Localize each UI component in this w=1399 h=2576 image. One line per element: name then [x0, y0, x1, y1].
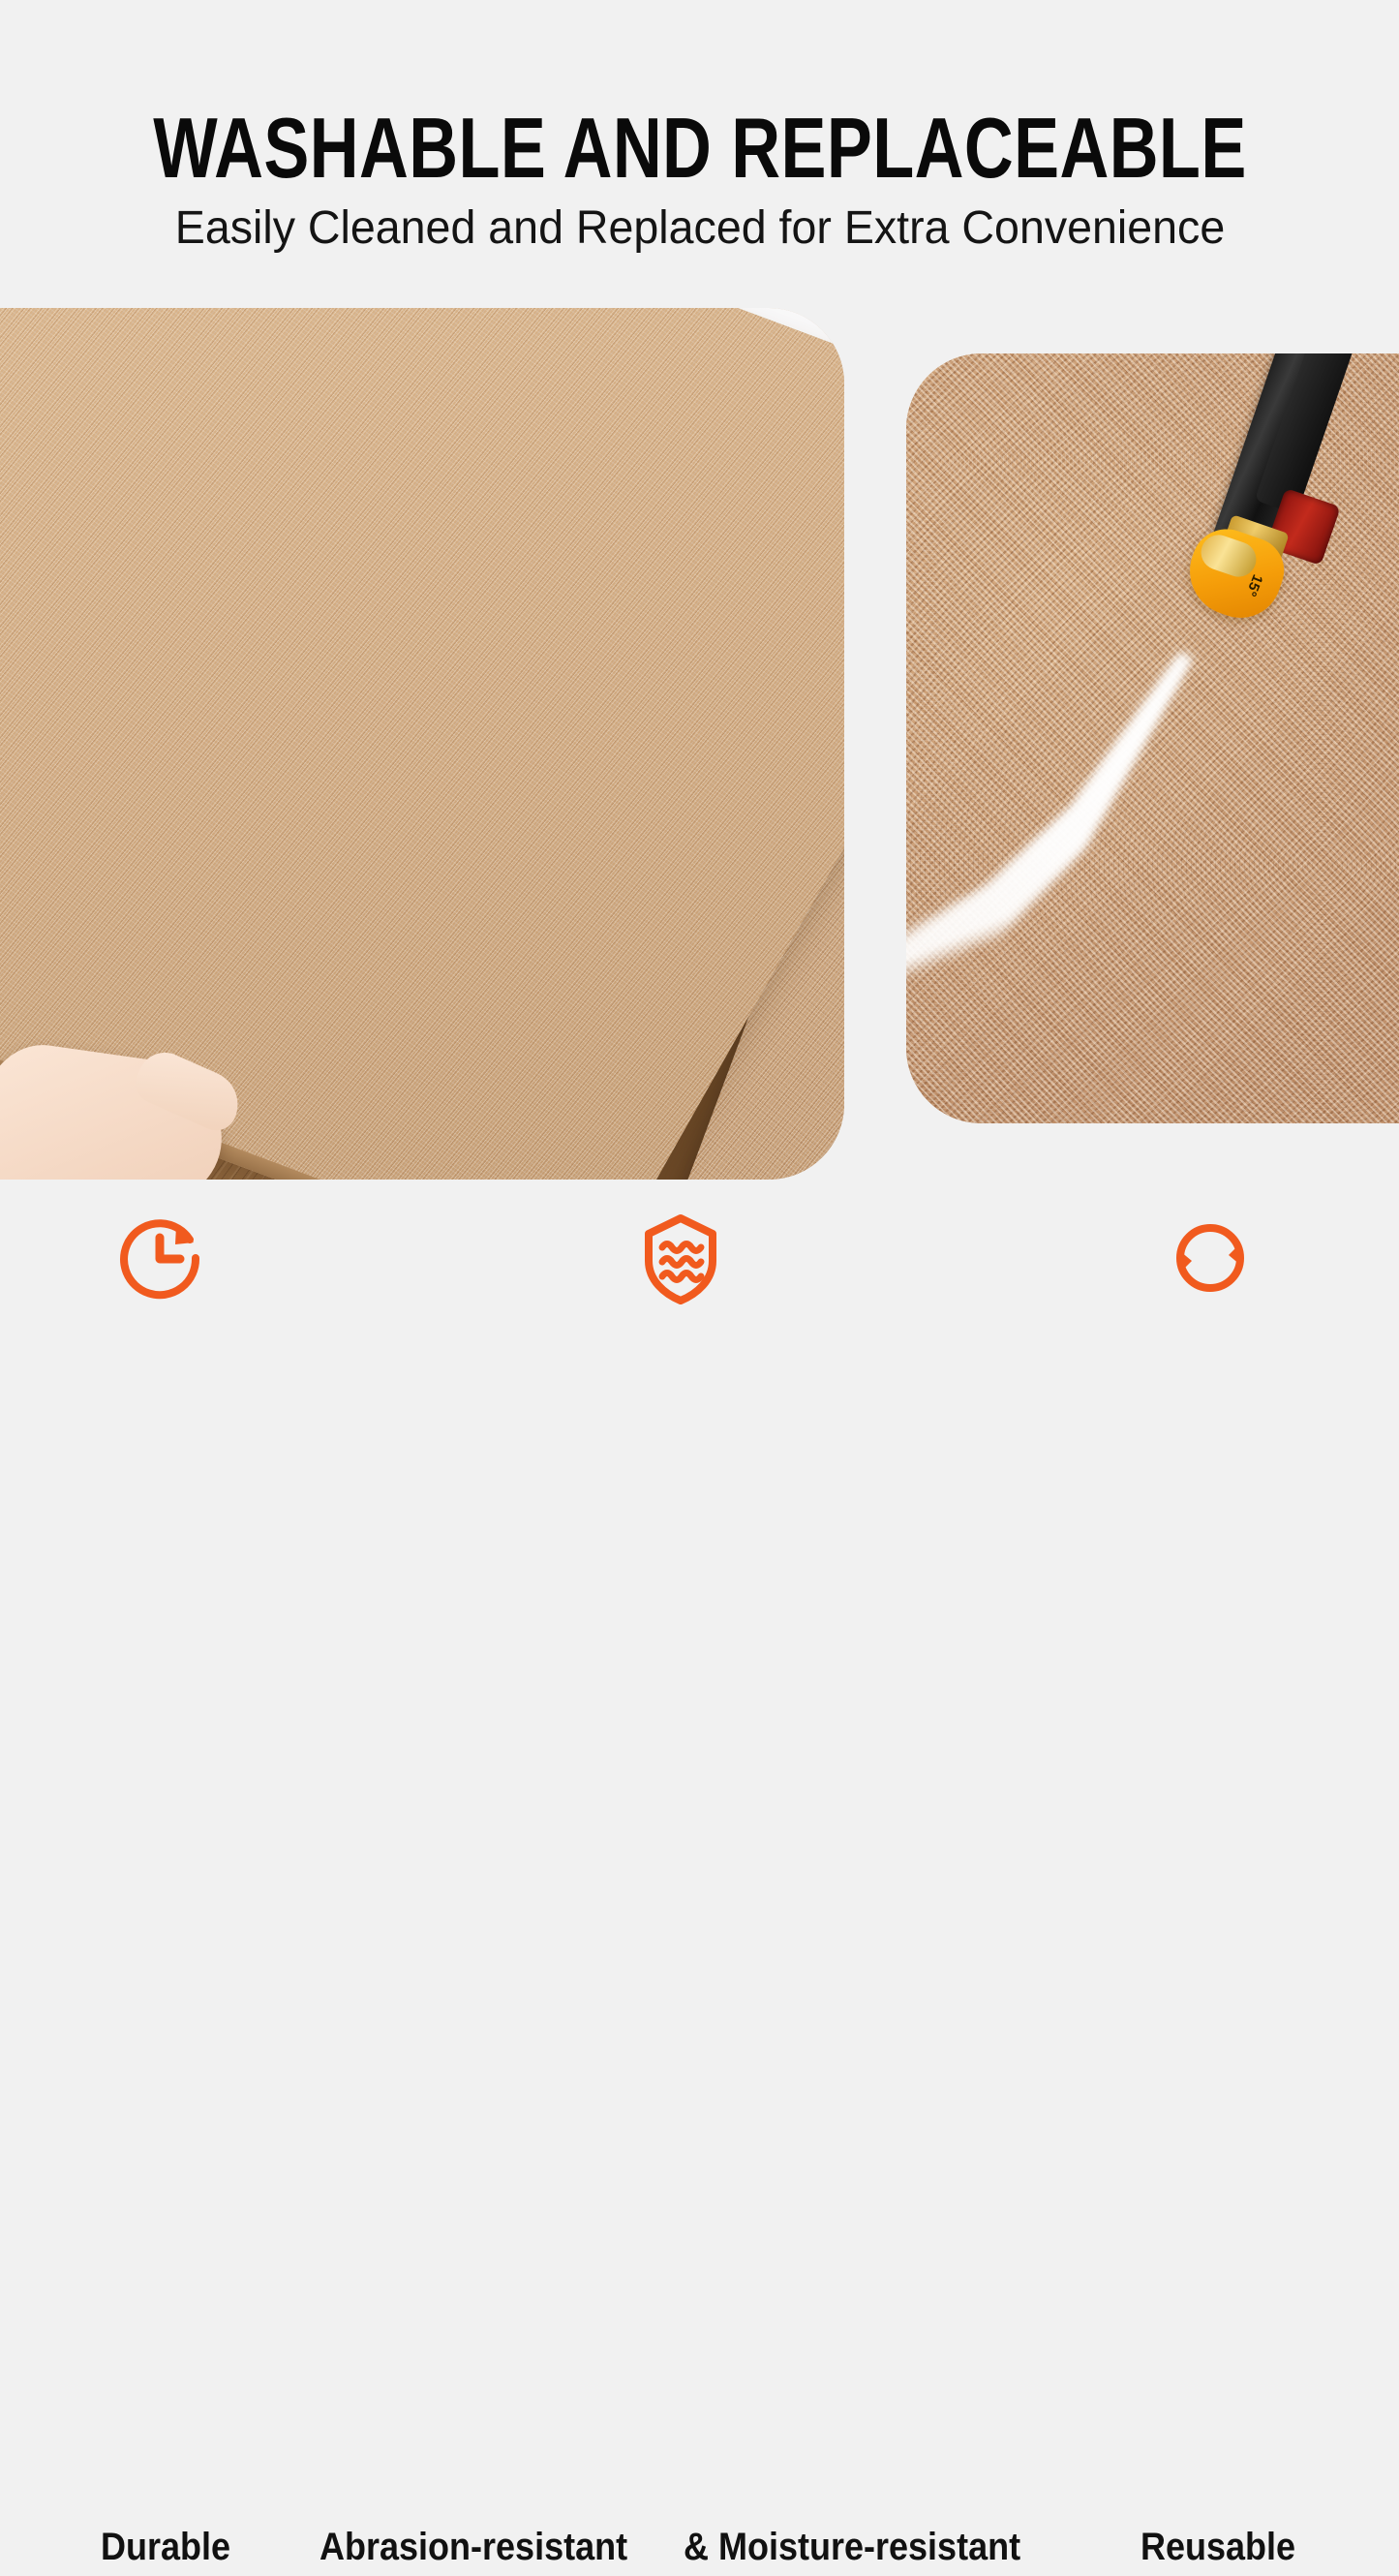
- clock-rotate-icon: [106, 1205, 213, 1311]
- photo-panel-carpet-tile-lift: [0, 308, 844, 1180]
- page-subtitle: Easily Cleaned and Replaced for Extra Co…: [174, 201, 1224, 256]
- photo-gallery: 15°: [0, 286, 1399, 1186]
- feature-label-abrasion-resistant: Abrasion-resistant: [319, 2524, 627, 2570]
- page-title: WASHABLE AND REPLACEABLE: [153, 105, 1247, 192]
- feature-icon-row: [0, 1205, 1399, 1311]
- shield-waves-icon: [627, 1205, 734, 1311]
- feature-label-row: Durable Abrasion-resistant & Moisture-re…: [0, 2518, 1399, 2576]
- photo-panel-carpet-pressure-wash: 15°: [906, 353, 1399, 1123]
- feature-label-reusable: Reusable: [1140, 2524, 1295, 2570]
- feature-label-moisture-resistant: & Moisture-resistant: [684, 2524, 1020, 2570]
- feature-bar: Durable Abrasion-resistant & Moisture-re…: [0, 1189, 1399, 1399]
- feature-label-durable: Durable: [101, 2524, 230, 2570]
- header-banner: WASHABLE AND REPLACEABLE Easily Cleaned …: [0, 0, 1399, 286]
- lifted-carpet-tile: [0, 308, 844, 1180]
- recycle-circle-icon: [1157, 1205, 1263, 1311]
- pressure-washer-wand: 15°: [1193, 353, 1357, 571]
